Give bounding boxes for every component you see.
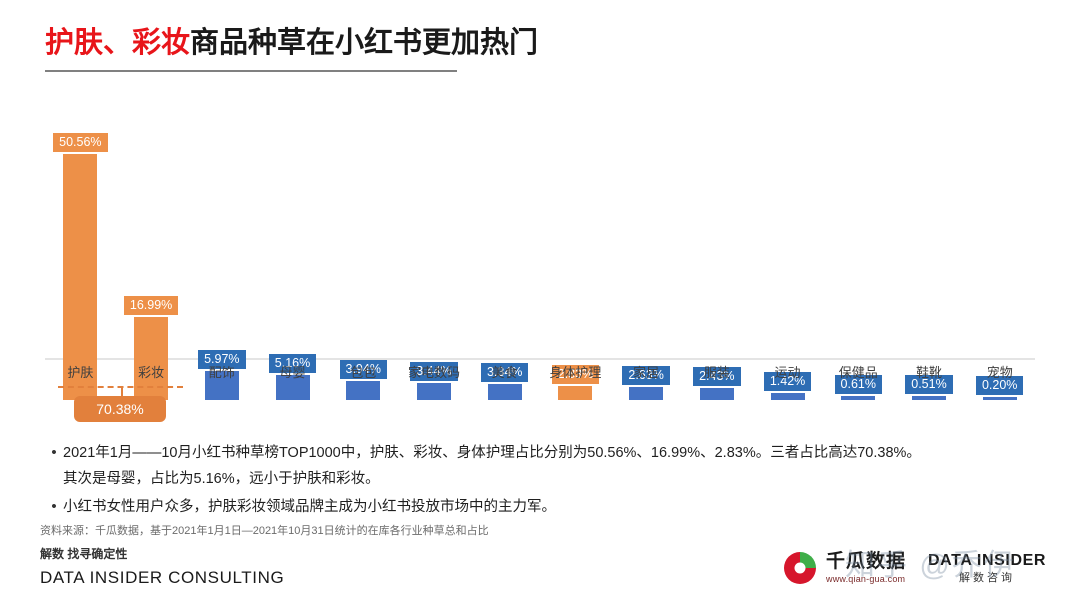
footer-logos: 千瓜数据 www.qian-gua.com DATA INSIDER 解数咨询 xyxy=(780,548,1046,588)
qiangua-logo-icon xyxy=(780,548,820,588)
footer-brand-en: DATA INSIDER CONSULTING xyxy=(40,566,284,590)
bar-rect xyxy=(417,383,451,400)
footer-brand-left: 解数 找寻确定性 DATA INSIDER CONSULTING xyxy=(40,545,284,590)
bar-chart: 50.56% 16.99% 5.97% 5.16% 3.94% 3.44% 3.… xyxy=(45,100,1035,400)
bar-rect xyxy=(983,397,1017,400)
bar-rect xyxy=(912,396,946,400)
bar-rect xyxy=(841,396,875,400)
bar-column-10: 1.42% xyxy=(752,100,823,400)
bullet-text-continued: 其次是母婴，占比为5.16%，远小于护肤和彩妆。 xyxy=(63,466,921,492)
bullet-list: • 2021年1月——10月小红书种草榜TOP1000中，护肤、彩妆、身体护理占… xyxy=(45,440,1045,522)
bar-value-label: 50.56% xyxy=(53,133,107,152)
qiangua-wordmark: 千瓜数据 www.qian-gua.com xyxy=(826,551,906,585)
bullet-dot-icon: • xyxy=(45,440,63,466)
bar-column-8: 2.63% xyxy=(611,100,682,400)
bullet-item-1: • 小红书女性用户众多，护肤彩妆领域品牌主成为小红书投放市场中的主力军。 xyxy=(45,494,1045,520)
category-label: 宠物 xyxy=(964,364,1035,382)
category-label: 保健品 xyxy=(823,364,894,382)
footer-brand-cn: 解数 找寻确定性 xyxy=(40,545,284,563)
title-underline xyxy=(45,70,457,72)
category-label: 家电数码 xyxy=(399,364,470,382)
category-label: 包包 xyxy=(328,364,399,382)
title-text: 护肤、彩妆商品种草在小红书更加热门 xyxy=(45,24,945,62)
category-label: 母婴 xyxy=(257,364,328,382)
bullet-dot-icon: • xyxy=(45,494,63,520)
bar-rect xyxy=(629,387,663,400)
bar-rect xyxy=(558,386,592,400)
callout-badge: 70.38% xyxy=(74,396,166,422)
bar-value-label: 16.99% xyxy=(124,296,178,315)
bar-rect xyxy=(488,384,522,400)
bar-column-5: 3.44% xyxy=(399,100,470,400)
bar-column-6: 3.34% xyxy=(469,100,540,400)
page-title: 护肤、彩妆商品种草在小红书更加热门 xyxy=(45,24,945,62)
data-insider-logo: DATA INSIDER 解数咨询 xyxy=(928,551,1046,585)
bar-column-1: 16.99% xyxy=(116,100,187,400)
category-label: 鞋靴 xyxy=(894,364,965,382)
qiangua-name: 千瓜数据 xyxy=(826,551,906,573)
category-label: 配饰 xyxy=(186,364,257,382)
category-label: 美食 xyxy=(469,364,540,382)
bullet-item-0: • 2021年1月——10月小红书种草榜TOP1000中，护肤、彩妆、身体护理占… xyxy=(45,440,1045,492)
chart-category-labels: 护肤 彩妆 配饰 母婴 包包 家电数码 美食 身体护理 家居 服装 运动 保健品… xyxy=(45,364,1035,382)
source-note: 资料来源：千瓜数据，基于2021年1月1日—2021年10月31日统计的在库各行… xyxy=(40,522,489,538)
category-label: 家居 xyxy=(611,364,682,382)
bullet-text: 2021年1月——10月小红书种草榜TOP1000中，护肤、彩妆、身体护理占比分… xyxy=(63,440,921,466)
bar-column-12: 0.51% xyxy=(894,100,965,400)
slide: 护肤、彩妆商品种草在小红书更加热门 50.56% 16.99% 5.97% 5.… xyxy=(0,0,1080,608)
title-rest: 商品种草在小红书更加热门 xyxy=(190,27,538,59)
category-label: 身体护理 xyxy=(540,364,611,382)
category-label: 运动 xyxy=(752,364,823,382)
bullet-text: 小红书女性用户众多，护肤彩妆领域品牌主成为小红书投放市场中的主力军。 xyxy=(63,494,556,520)
bar-column-3: 5.16% xyxy=(257,100,328,400)
bar-column-2: 5.97% xyxy=(186,100,257,400)
bar-rect xyxy=(771,393,805,400)
category-label: 彩妆 xyxy=(116,364,187,382)
data-insider-en: DATA INSIDER xyxy=(928,551,1046,571)
title-highlight: 护肤、彩妆 xyxy=(45,27,190,59)
bar-column-11: 0.61% xyxy=(823,100,894,400)
bar-column-13: 0.20% xyxy=(964,100,1035,400)
bar-column-7: 2.83% xyxy=(540,100,611,400)
bar-column-9: 2.43% xyxy=(681,100,752,400)
category-label: 护肤 xyxy=(45,364,116,382)
bar-column-4: 3.94% xyxy=(328,100,399,400)
bar-rect xyxy=(346,381,380,400)
qiangua-url: www.qian-gua.com xyxy=(826,573,906,585)
category-label: 服装 xyxy=(681,364,752,382)
data-insider-cn: 解数咨询 xyxy=(928,571,1046,585)
bar-rect xyxy=(700,388,734,400)
bar-column-0: 50.56% xyxy=(45,100,116,400)
